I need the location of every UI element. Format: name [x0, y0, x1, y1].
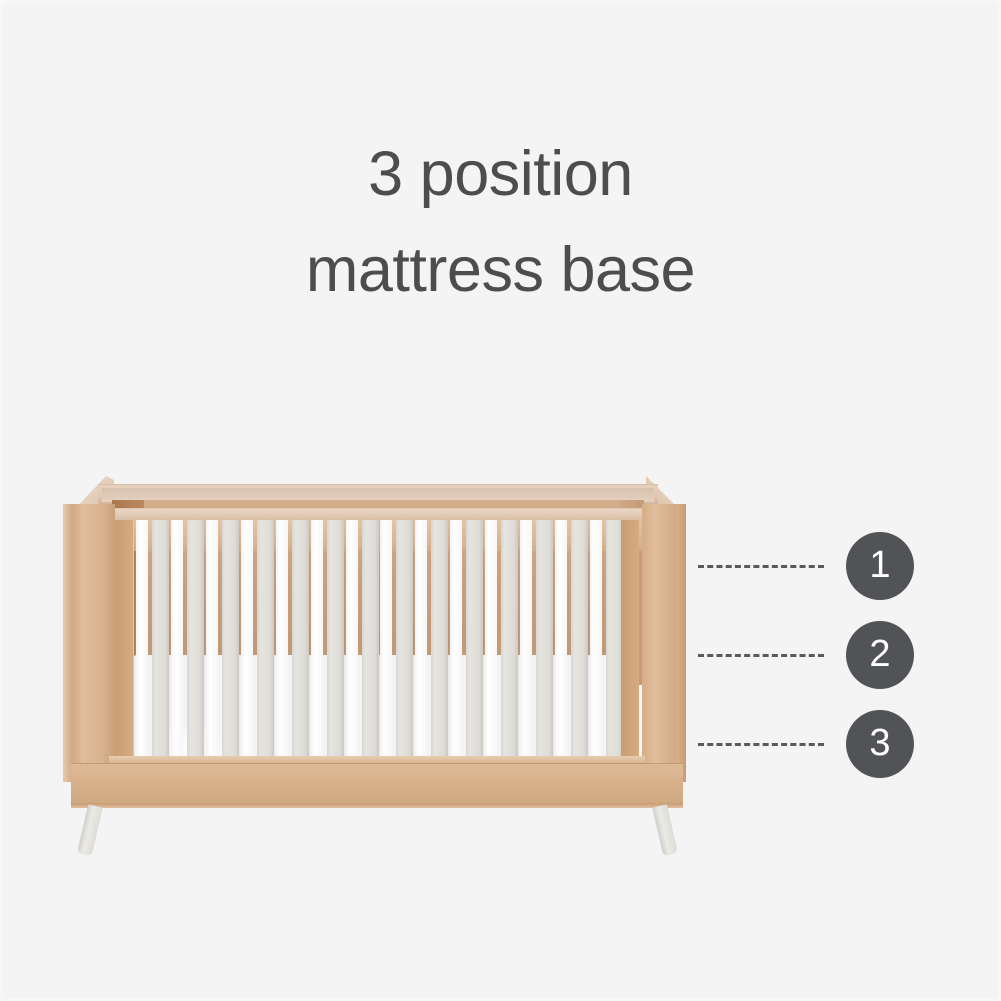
crib-slat-far [590, 520, 602, 770]
crib-slat-far [380, 520, 392, 770]
crib-bottom-board [71, 763, 683, 806]
callout-dash-line-1 [698, 565, 824, 568]
crib-slat-far [171, 520, 183, 770]
crib-slat-far [555, 520, 567, 770]
crib-post-edge-right [677, 504, 686, 782]
crib-slats [115, 520, 639, 770]
product-infographic: 3 position mattress base 1 [0, 0, 1001, 1001]
crib-slat [536, 520, 553, 770]
crib-slat [362, 520, 379, 770]
crib-slat [292, 520, 309, 770]
crib-post-edge-left [63, 504, 72, 782]
callout-dash-line-2 [698, 654, 824, 657]
crib-slat [466, 520, 483, 770]
crib-slat [152, 520, 169, 770]
page-title-line-2: mattress base [0, 222, 1001, 318]
crib-slat-far [346, 520, 358, 770]
crib-inner-stile-right [621, 520, 639, 770]
callout-3: 3 [698, 710, 914, 778]
callout-2: 2 [698, 621, 914, 689]
crib-leg-right [652, 804, 678, 856]
crib-slat-far [415, 520, 427, 770]
crib-slat [327, 520, 344, 770]
crib-slat [187, 520, 204, 770]
crib-image [62, 470, 692, 830]
callout-1: 1 [698, 532, 914, 600]
crib-slat-far [241, 520, 253, 770]
crib-slat-far [450, 520, 462, 770]
crib-slat-far [206, 520, 218, 770]
crib-slat-far [276, 520, 288, 770]
page-title-line-1: 3 position [0, 126, 1001, 222]
position-badge-3[interactable]: 3 [846, 710, 914, 778]
crib-slat-far [136, 520, 148, 770]
page-title: 3 position mattress base [0, 126, 1001, 318]
crib-slat [396, 520, 413, 770]
crib-post-left [71, 504, 115, 782]
crib-slat [501, 520, 518, 770]
crib-slat [431, 520, 448, 770]
crib-slat-far [311, 520, 323, 770]
crib-leg-left [77, 804, 103, 856]
position-badge-2[interactable]: 2 [846, 621, 914, 689]
crib-slat [257, 520, 274, 770]
callout-dash-line-3 [698, 743, 824, 746]
crib-slat-far [485, 520, 497, 770]
crib-slat-far [520, 520, 532, 770]
crib-slat [222, 520, 239, 770]
crib-inner-stile-left [115, 520, 133, 770]
position-badge-1[interactable]: 1 [846, 532, 914, 600]
crib-slat [571, 520, 588, 770]
crib-bottom-lip [71, 803, 683, 808]
